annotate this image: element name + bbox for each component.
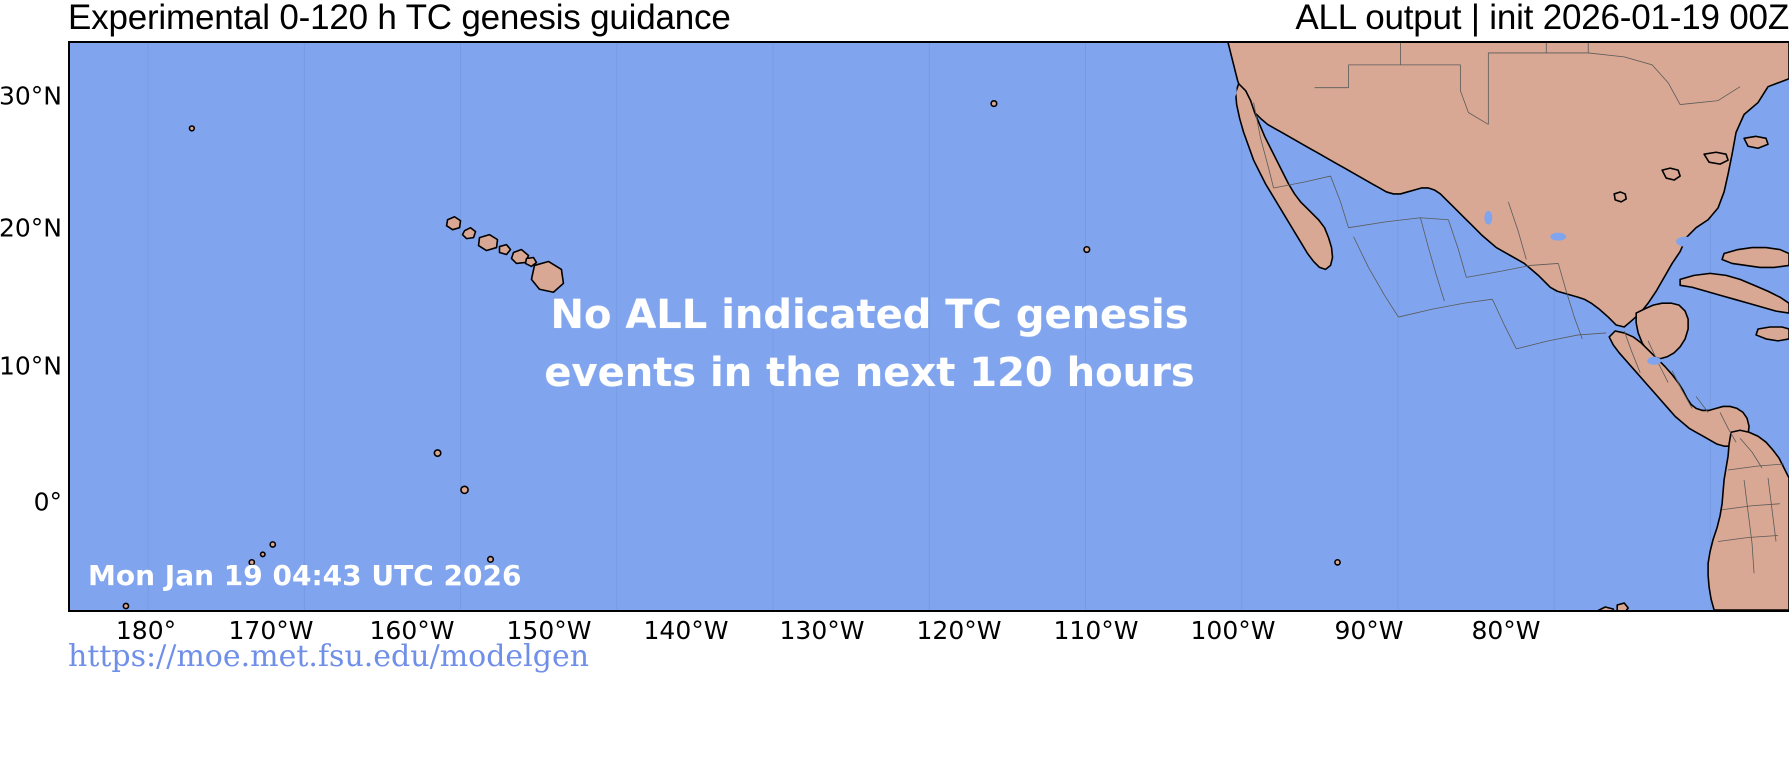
galapagos-islands bbox=[1597, 603, 1644, 610]
small-islands bbox=[123, 101, 1340, 610]
source-url-link[interactable]: https://moe.met.fsu.edu/modelgen bbox=[68, 639, 589, 674]
page-title: Experimental 0-120 h TC genesis guidance bbox=[68, 0, 731, 38]
xtick-label-120w: 120°W bbox=[917, 616, 1002, 645]
ytick-label-20n: 20°N bbox=[0, 214, 62, 243]
ytick-label-0: 0° bbox=[34, 488, 62, 517]
xtick-label-140w: 140°W bbox=[644, 616, 729, 645]
xtick-label-130w: 130°W bbox=[780, 616, 865, 645]
basemap-svg bbox=[70, 43, 1789, 610]
map-plot-area[interactable]: No ALL indicated TC genesis events in th… bbox=[68, 41, 1789, 612]
tc-genesis-figure: Experimental 0-120 h TC genesis guidance… bbox=[0, 0, 1789, 768]
ytick-label-10n: 10°N bbox=[0, 352, 62, 381]
hawaiian-islands bbox=[447, 217, 564, 292]
generation-timestamp: Mon Jan 19 04:43 UTC 2026 bbox=[88, 559, 521, 592]
xtick-label-80w: 80°W bbox=[1471, 616, 1540, 645]
xtick-label-90w: 90°W bbox=[1334, 616, 1403, 645]
output-init-label: ALL output | init 2026-01-19 00Z bbox=[1295, 0, 1789, 38]
xtick-label-110w: 110°W bbox=[1054, 616, 1139, 645]
xtick-label-100w: 100°W bbox=[1191, 616, 1276, 645]
ytick-label-30n: 30°N bbox=[0, 82, 62, 111]
